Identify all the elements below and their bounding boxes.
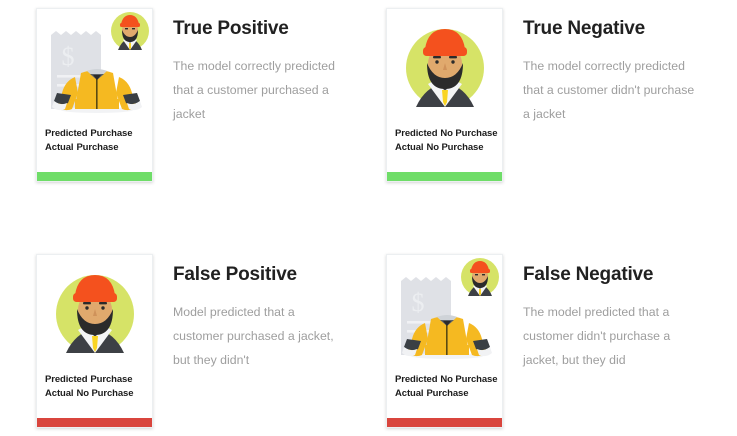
label-row-actual: ActualPurchase — [395, 387, 502, 401]
card-labels-true-negative: PredictedNo Purchase ActualNo Purchase — [387, 127, 502, 155]
avatar-icon — [52, 271, 138, 357]
label-value-actual: No Purchase — [426, 142, 483, 153]
card-labels-true-positive: PredictedPurchase ActualPurchase — [37, 127, 152, 155]
label-row-predicted: PredictedNo Purchase — [395, 127, 502, 141]
label-row-predicted: PredictedPurchase — [45, 127, 152, 141]
description-true-positive: The model correctly predicted that a cus… — [173, 54, 348, 126]
receipt-jacket-avatar-icon: $ — [37, 9, 153, 127]
quadrant-false-positive: PredictedPurchase ActualNo Purchase Fals… — [36, 254, 348, 428]
textblock-true-positive: True Positive The model correctly predic… — [173, 8, 348, 126]
label-value-actual: No Purchase — [76, 388, 133, 399]
label-row-actual: ActualNo Purchase — [395, 141, 502, 155]
label-key-actual: Actual — [395, 142, 423, 153]
title-true-negative: True Negative — [523, 18, 698, 40]
textblock-true-negative: True Negative The model correctly predic… — [523, 8, 698, 126]
receipt-jacket-avatar-icon: $ — [387, 255, 503, 373]
label-value-predicted: Purchase — [90, 128, 132, 139]
illustration-avatar-large — [37, 255, 152, 373]
label-key-actual: Actual — [45, 388, 73, 399]
card-false-negative[interactable]: $ — [386, 254, 503, 428]
card-true-positive[interactable]: $ — [36, 8, 153, 182]
description-false-positive: Model predicted that a customer purchase… — [173, 300, 348, 372]
label-row-actual: ActualPurchase — [45, 141, 152, 155]
description-true-negative: The model correctly predicted that a cus… — [523, 54, 698, 126]
card-false-positive[interactable]: PredictedPurchase ActualNo Purchase — [36, 254, 153, 428]
textblock-false-negative: False Negative The model predicted that … — [523, 254, 698, 372]
status-bar-incorrect — [37, 418, 152, 427]
svg-text:$: $ — [412, 288, 425, 317]
title-true-positive: True Positive — [173, 18, 348, 40]
status-bar-correct — [387, 172, 502, 181]
quadrant-false-negative: $ — [386, 254, 698, 428]
label-key-actual: Actual — [45, 142, 73, 153]
card-labels-false-negative: PredictedNo Purchase ActualPurchase — [387, 373, 502, 401]
card-labels-false-positive: PredictedPurchase ActualNo Purchase — [37, 373, 152, 401]
svg-text:$: $ — [62, 42, 75, 71]
quadrant-true-negative: PredictedNo Purchase ActualNo Purchase T… — [386, 8, 698, 182]
label-value-actual: Purchase — [76, 142, 118, 153]
illustration-receipt-jacket-avatar: $ — [387, 255, 502, 373]
status-bar-correct — [37, 172, 152, 181]
title-false-negative: False Negative — [523, 264, 698, 286]
label-row-actual: ActualNo Purchase — [45, 387, 152, 401]
label-row-predicted: PredictedNo Purchase — [395, 373, 502, 387]
label-value-predicted: Purchase — [90, 374, 132, 385]
illustration-receipt-jacket-avatar: $ — [37, 9, 152, 127]
label-value-predicted: No Purchase — [440, 128, 497, 139]
label-key-predicted: Predicted — [45, 128, 87, 139]
title-false-positive: False Positive — [173, 264, 348, 286]
avatar-icon — [402, 25, 488, 111]
label-key-actual: Actual — [395, 388, 423, 399]
label-value-actual: Purchase — [426, 388, 468, 399]
illustration-avatar-large — [387, 9, 502, 127]
confusion-matrix-grid: $ — [0, 0, 737, 436]
label-key-predicted: Predicted — [395, 128, 437, 139]
label-row-predicted: PredictedPurchase — [45, 373, 152, 387]
description-false-negative: The model predicted that a customer didn… — [523, 300, 698, 372]
label-key-predicted: Predicted — [45, 374, 87, 385]
quadrant-true-positive: $ — [36, 8, 348, 182]
status-bar-incorrect — [387, 418, 502, 427]
card-true-negative[interactable]: PredictedNo Purchase ActualNo Purchase — [386, 8, 503, 182]
label-key-predicted: Predicted — [395, 374, 437, 385]
textblock-false-positive: False Positive Model predicted that a cu… — [173, 254, 348, 372]
label-value-predicted: No Purchase — [440, 374, 497, 385]
